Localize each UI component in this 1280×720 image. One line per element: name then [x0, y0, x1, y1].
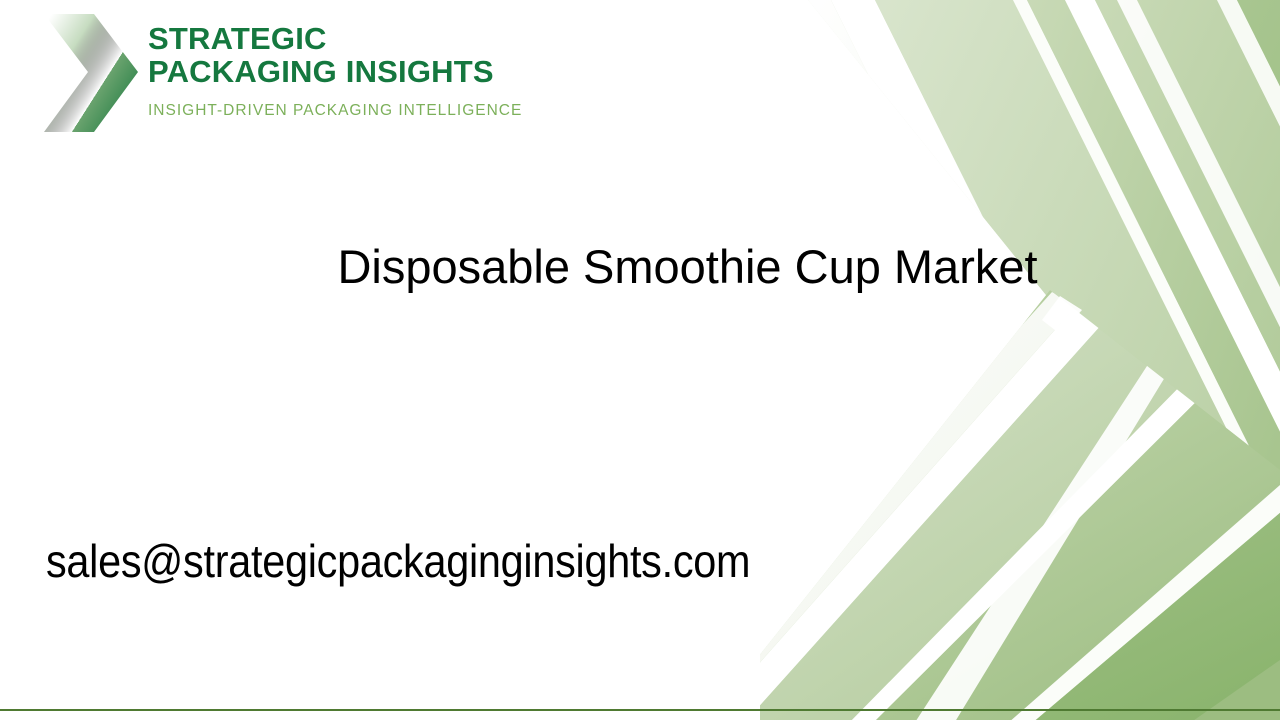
contact-email[interactable]: sales@strategicpackaginginsights.com: [46, 532, 750, 590]
diagonal-chevron-decoration: [760, 0, 1280, 720]
company-logo: STRATEGIC PACKAGING INSIGHTS INSIGHT-DRI…: [38, 8, 558, 136]
chevron-arrow-icon: [38, 10, 142, 136]
wordmark-line-2: PACKAGING INSIGHTS: [148, 55, 558, 88]
logo-wordmark-block: STRATEGIC PACKAGING INSIGHTS INSIGHT-DRI…: [148, 22, 558, 120]
title-slide: STRATEGIC PACKAGING INSIGHTS INSIGHT-DRI…: [0, 0, 1280, 720]
page-title: Disposable Smoothie Cup Market: [300, 240, 1075, 294]
lower-diagonal-band-group: [760, 290, 1280, 720]
crossing-ribbon-group-upper: [1112, 0, 1280, 520]
apex-notch-detail: [1042, 296, 1082, 334]
logo-tagline: INSIGHT-DRIVEN PACKAGING INTELLIGENCE: [148, 102, 558, 120]
wordmark-line-1: STRATEGIC: [148, 22, 558, 55]
crossing-ribbon-group: [910, 300, 1212, 720]
bottom-rule: [0, 709, 1280, 711]
